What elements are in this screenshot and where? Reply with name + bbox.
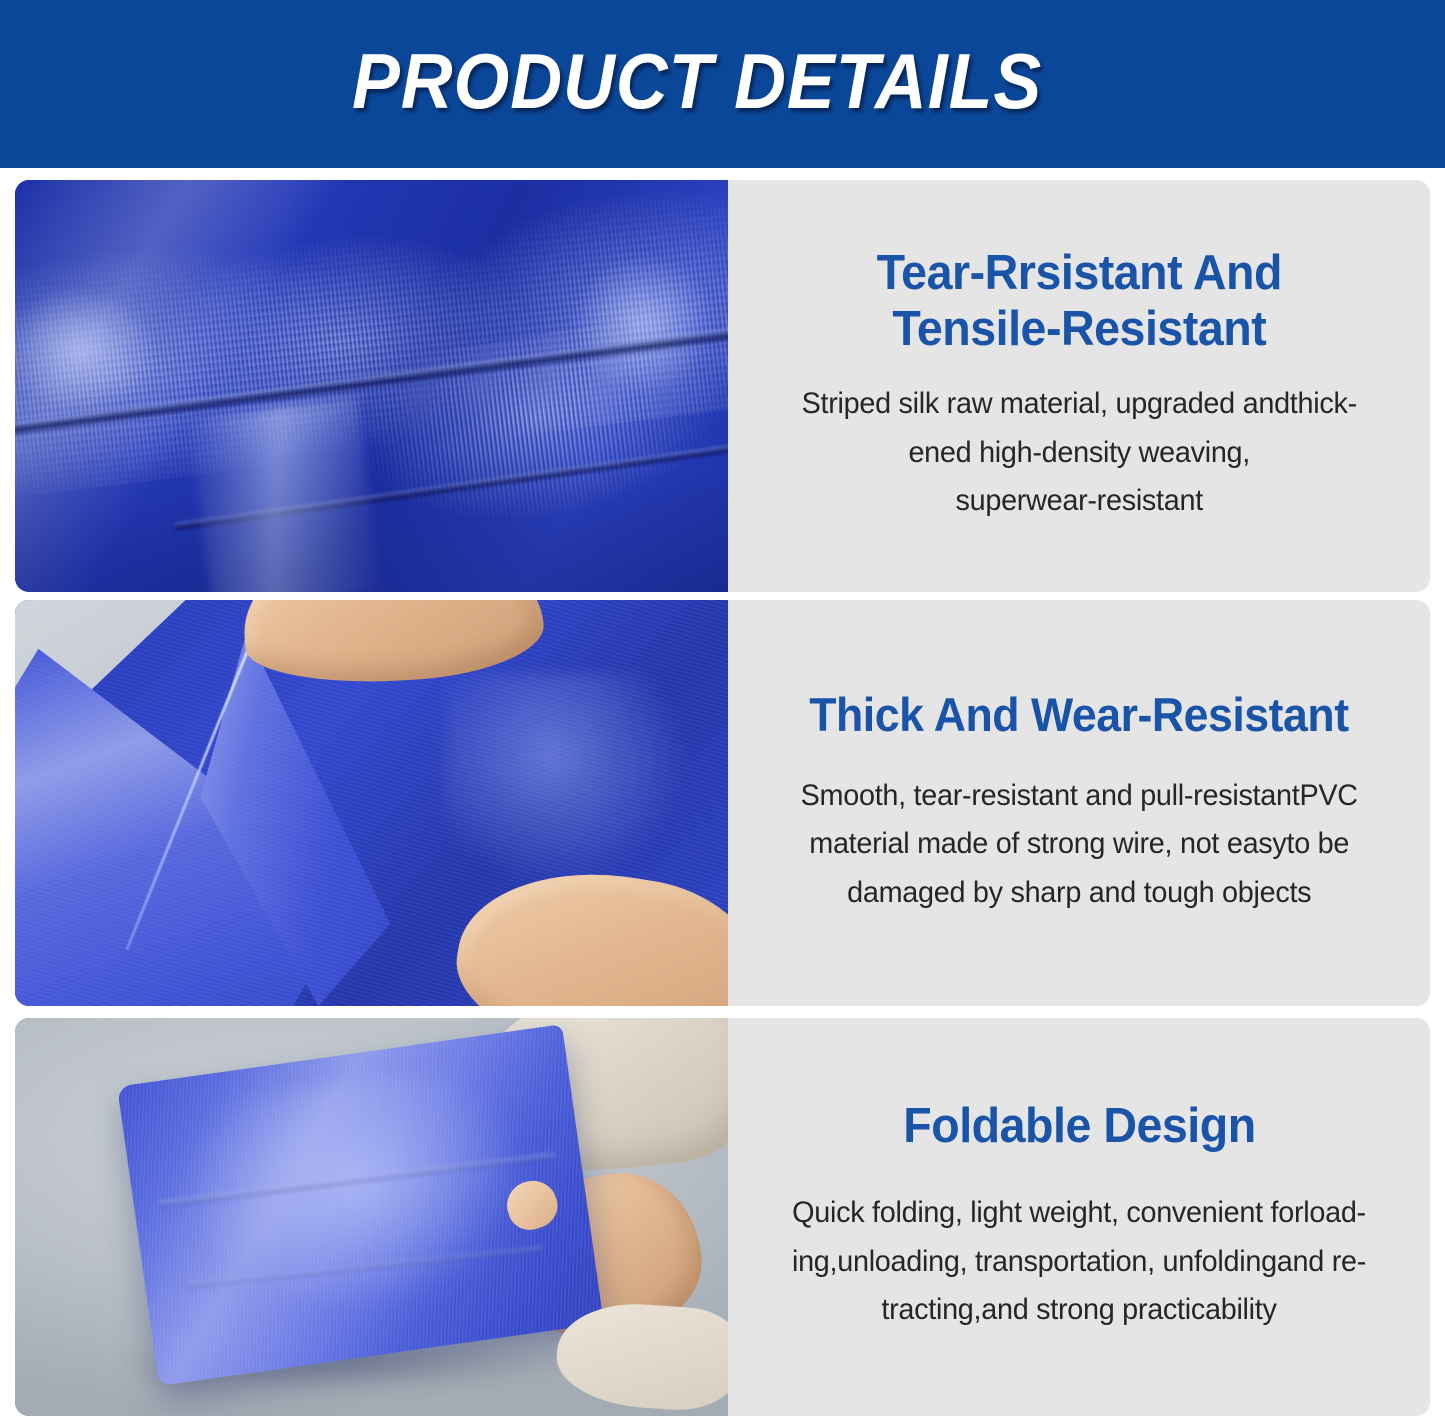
feature-image-foldable-design [15,1018,728,1416]
hands-stretching-tarp-photo [15,600,728,1006]
page-title: PRODUCT DETAILS [352,42,1042,126]
feature-panel-thick-wear-resistant: Thick And Wear-Resistant Smooth, tear-re… [15,600,1430,1006]
tarp-weave-texture-photo [15,180,728,592]
feature-text-thick-wear-resistant: Thick And Wear-Resistant Smooth, tear-re… [728,600,1430,1006]
feature-text-tear-resistant: Tear-Rrsistant And Tensile-Resistant Str… [728,180,1430,592]
feature-image-tear-resistant [15,180,728,592]
feature-panel-foldable-design: Foldable Design Quick folding, light wei… [15,1018,1430,1416]
feature-heading: Thick And Wear-Resistant [809,688,1348,742]
feature-description: Striped silk raw material, upgraded andt… [801,380,1356,526]
header-banner: PRODUCT DETAILS [0,0,1445,168]
feature-heading: Foldable Design [903,1099,1255,1155]
photo-shading [15,452,728,592]
feature-heading: Tear-Rrsistant And Tensile-Resistant [876,246,1281,358]
feature-description: Smooth, tear-resistant and pull-resistan… [800,772,1357,918]
product-details-page: PRODUCT DETAILS Tear-Rrsistant And Tensi… [0,0,1445,1427]
feature-text-foldable-design: Foldable Design Quick folding, light wei… [728,1018,1430,1416]
folded-tarp-photo [15,1018,728,1416]
feature-panel-tear-resistant: Tear-Rrsistant And Tensile-Resistant Str… [15,180,1430,592]
feature-image-thick-wear-resistant [15,600,728,1006]
feature-description: Quick folding, light weight, convenient … [792,1189,1366,1335]
